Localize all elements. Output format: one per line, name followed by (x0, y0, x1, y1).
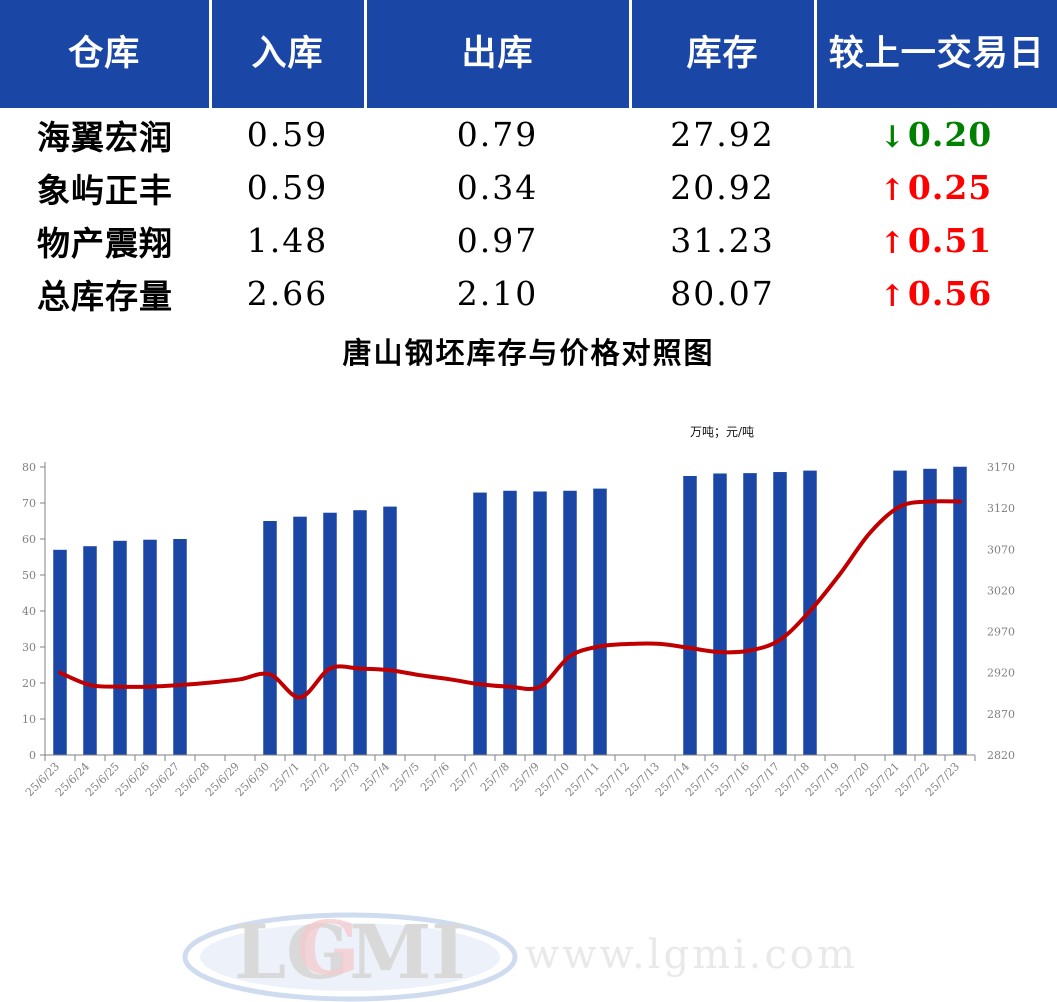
cell-stock: 80.07 (630, 267, 815, 320)
bar (113, 541, 127, 755)
table-row: 象屿正丰0.590.3420.92↑0.25 (0, 161, 1057, 214)
svg-text:2920: 2920 (987, 667, 1015, 680)
table-header-row: 仓库 入库 出库 库存 较上一交易日 (0, 0, 1057, 108)
table-row: 总库存量2.662.1080.07↑0.56 (0, 267, 1057, 320)
svg-text:25/7/1: 25/7/1 (268, 760, 302, 794)
bar (293, 517, 307, 755)
change-value: 0.51 (908, 221, 992, 260)
svg-text:25/6/30: 25/6/30 (233, 760, 272, 799)
svg-text:40: 40 (22, 605, 36, 618)
svg-text:70: 70 (22, 497, 36, 510)
cell-inbound: 0.59 (210, 161, 365, 214)
cell-warehouse-name: 象屿正丰 (0, 161, 210, 214)
plot-area: 01020304050607080 2820287029202970302030… (0, 320, 1057, 865)
cell-stock: 20.92 (630, 161, 815, 214)
svg-text:2970: 2970 (987, 626, 1015, 639)
svg-text:10: 10 (22, 713, 36, 726)
arrow-up-icon: ↑ (880, 173, 906, 208)
change-value: 0.25 (908, 168, 992, 207)
column-header-warehouse: 仓库 (0, 0, 210, 108)
cell-change-vs-prev-day: ↑0.25 (815, 161, 1057, 214)
svg-text:25/7/3: 25/7/3 (328, 760, 362, 794)
column-header-outbound: 出库 (365, 0, 630, 108)
column-header-stock: 库存 (630, 0, 815, 108)
bar (83, 546, 97, 755)
change-value: 0.56 (908, 274, 992, 313)
svg-text:3120: 3120 (987, 502, 1015, 515)
bar (893, 471, 907, 755)
bar (53, 550, 67, 755)
bar (953, 467, 967, 755)
bar (473, 493, 487, 755)
cell-outbound: 0.34 (365, 161, 630, 214)
warehouse-inventory-table: 仓库 入库 出库 库存 较上一交易日 海翼宏润0.590.7927.92↓0.2… (0, 0, 1057, 320)
bar (533, 491, 547, 755)
bar (563, 491, 577, 755)
svg-text:2870: 2870 (987, 708, 1015, 721)
bar (173, 539, 187, 755)
bar (503, 491, 517, 755)
bar (773, 472, 787, 755)
cell-change-vs-prev-day: ↑0.51 (815, 214, 1057, 267)
svg-text:60: 60 (22, 533, 36, 546)
bar (683, 476, 697, 755)
x-axis: 25/6/2325/6/2425/6/2525/6/2625/6/2725/6/… (23, 755, 975, 799)
svg-text:3070: 3070 (987, 543, 1015, 556)
bar (743, 473, 757, 755)
left-y-axis: 01020304050607080 (22, 461, 45, 762)
table-row: 海翼宏润0.590.7927.92↓0.20 (0, 108, 1057, 161)
column-header-inbound: 入库 (210, 0, 365, 108)
cell-outbound: 0.79 (365, 108, 630, 161)
cell-stock: 31.23 (630, 214, 815, 267)
bar (143, 540, 157, 755)
lgmi-watermark-logo: LGMI G (180, 912, 520, 1002)
cell-change-vs-prev-day: ↓0.20 (815, 108, 1057, 161)
svg-text:G: G (296, 912, 359, 992)
arrow-up-icon: ↑ (880, 226, 906, 261)
cell-change-vs-prev-day: ↑0.56 (815, 267, 1057, 320)
bar (263, 521, 277, 755)
svg-text:25/7/23: 25/7/23 (923, 760, 962, 799)
cell-inbound: 0.59 (210, 108, 365, 161)
right-y-axis: 28202870292029703020307031203170 (987, 461, 1015, 762)
svg-text:25/7/2: 25/7/2 (298, 760, 332, 794)
bar (923, 469, 937, 755)
cell-warehouse-name: 总库存量 (0, 267, 210, 320)
bar (353, 510, 367, 755)
svg-text:80: 80 (22, 461, 36, 474)
cell-warehouse-name: 物产震翔 (0, 214, 210, 267)
svg-text:50: 50 (22, 569, 36, 582)
svg-text:25/7/5: 25/7/5 (388, 760, 422, 794)
svg-text:20: 20 (22, 677, 36, 690)
svg-text:30: 30 (22, 641, 36, 654)
chart-block: 唐山钢坯库存与价格对照图 万吨；元/吨 LGMI G www.lgmi.com … (0, 320, 1057, 865)
bar (323, 513, 337, 755)
cell-outbound: 0.97 (365, 214, 630, 267)
bar (713, 473, 727, 755)
svg-text:25/7/4: 25/7/4 (358, 760, 392, 794)
svg-text:LGMI: LGMI (234, 912, 466, 996)
lgmi-watermark-url: www.lgmi.com (525, 932, 858, 978)
table-body: 海翼宏润0.590.7927.92↓0.20象屿正丰0.590.3420.92↑… (0, 108, 1057, 320)
svg-text:0: 0 (29, 749, 36, 762)
cell-warehouse-name: 海翼宏润 (0, 108, 210, 161)
svg-text:25/7/6: 25/7/6 (418, 760, 452, 794)
cell-inbound: 2.66 (210, 267, 365, 320)
column-header-change-vs-prev-day: 较上一交易日 (815, 0, 1057, 108)
cell-stock: 27.92 (630, 108, 815, 161)
change-value: 0.20 (908, 115, 992, 154)
svg-text:25/7/7: 25/7/7 (448, 760, 482, 794)
arrow-down-icon: ↓ (880, 120, 906, 155)
cell-outbound: 2.10 (365, 267, 630, 320)
arrow-up-icon: ↑ (880, 279, 906, 314)
svg-text:25/7/8: 25/7/8 (478, 760, 512, 794)
bar (593, 489, 607, 755)
table-row: 物产震翔1.480.9731.23↑0.51 (0, 214, 1057, 267)
svg-text:3170: 3170 (987, 461, 1015, 474)
cell-inbound: 1.48 (210, 214, 365, 267)
bar (383, 507, 397, 755)
bar-series (53, 467, 967, 755)
svg-text:3020: 3020 (987, 584, 1015, 597)
svg-text:2820: 2820 (987, 749, 1015, 762)
